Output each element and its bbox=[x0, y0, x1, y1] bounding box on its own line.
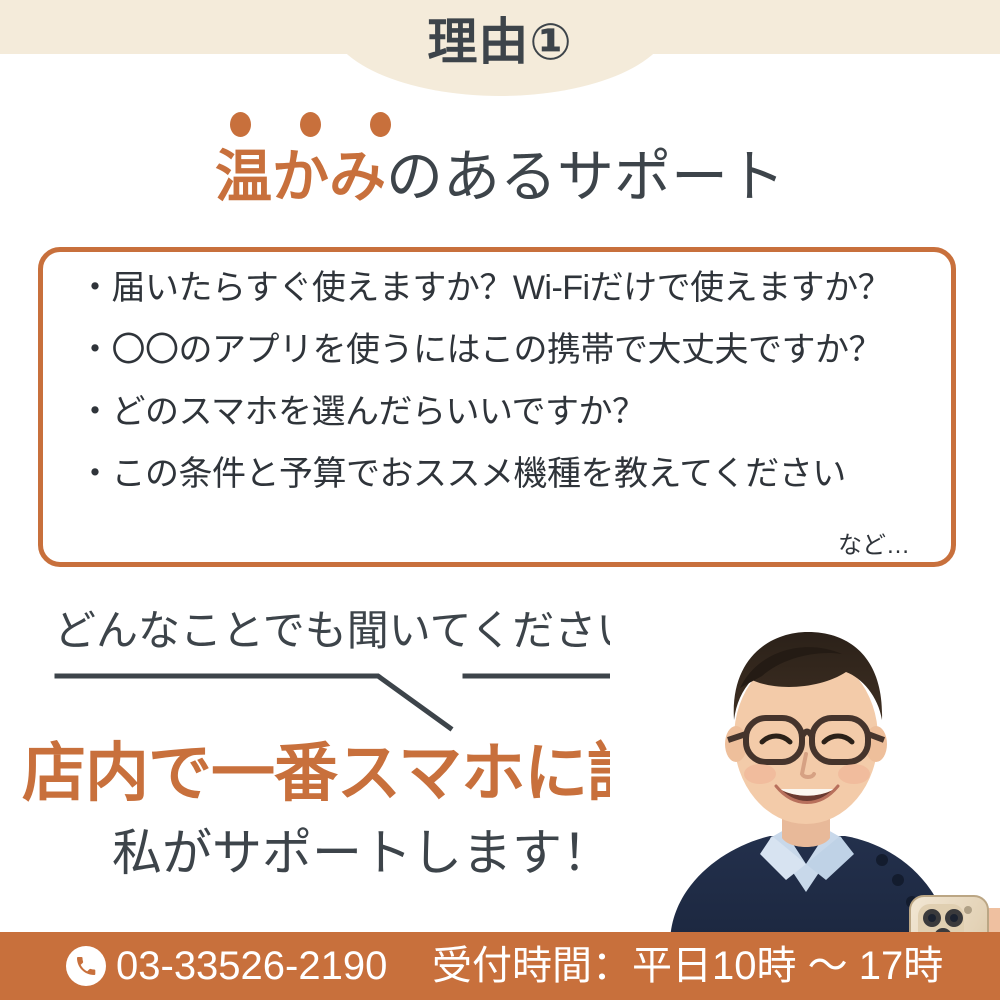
contact-bar: 03-33526-2190 受付時間：平日10時 〜 17時 bbox=[0, 932, 1000, 1000]
section-subtitle: 温かみのあるサポート bbox=[0, 142, 1000, 212]
phone-icon bbox=[66, 946, 106, 986]
poster-canvas: 理由① 温かみのあるサポート ・届いたらすぐ使えますか？Wi-Fiだけで使えます… bbox=[0, 0, 1000, 1000]
subtitle-rest: のあるサポート bbox=[386, 145, 785, 209]
cta-subline: 私がサポートします！ bbox=[112, 822, 612, 884]
emphasis-dot-icon bbox=[230, 112, 251, 137]
emphasis-dot-icon bbox=[370, 112, 391, 137]
business-hours: 受付時間：平日10時 〜 17時 bbox=[432, 944, 943, 988]
question-list-suffix: など… bbox=[38, 525, 956, 560]
emphasis-dots bbox=[224, 112, 464, 140]
list-item: ・この条件と予算でおススメ機種を教えてください bbox=[78, 454, 916, 494]
list-item: ・〇〇のアプリを使うにはこの携帯で大丈夫ですか？ bbox=[78, 330, 916, 370]
list-item: ・届いたらすぐ使えますか？Wi-Fiだけで使えますか？ bbox=[78, 268, 916, 308]
cta-invite-text: どんなことでも聞いてください！ bbox=[54, 604, 680, 658]
subtitle-highlight: 温かみ bbox=[215, 145, 386, 209]
speech-tail-underline bbox=[40, 660, 680, 740]
emphasis-dot-icon bbox=[300, 112, 321, 137]
reason-badge-label: 理由① bbox=[0, 12, 1000, 72]
phone-number[interactable]: 03-33526-2190 bbox=[116, 944, 387, 988]
question-list: ・届いたらすぐ使えますか？Wi-Fiだけで使えますか？ ・〇〇のアプリを使うには… bbox=[38, 268, 956, 494]
list-item: ・どのスマホを選んだらいいですか？ bbox=[78, 392, 916, 432]
